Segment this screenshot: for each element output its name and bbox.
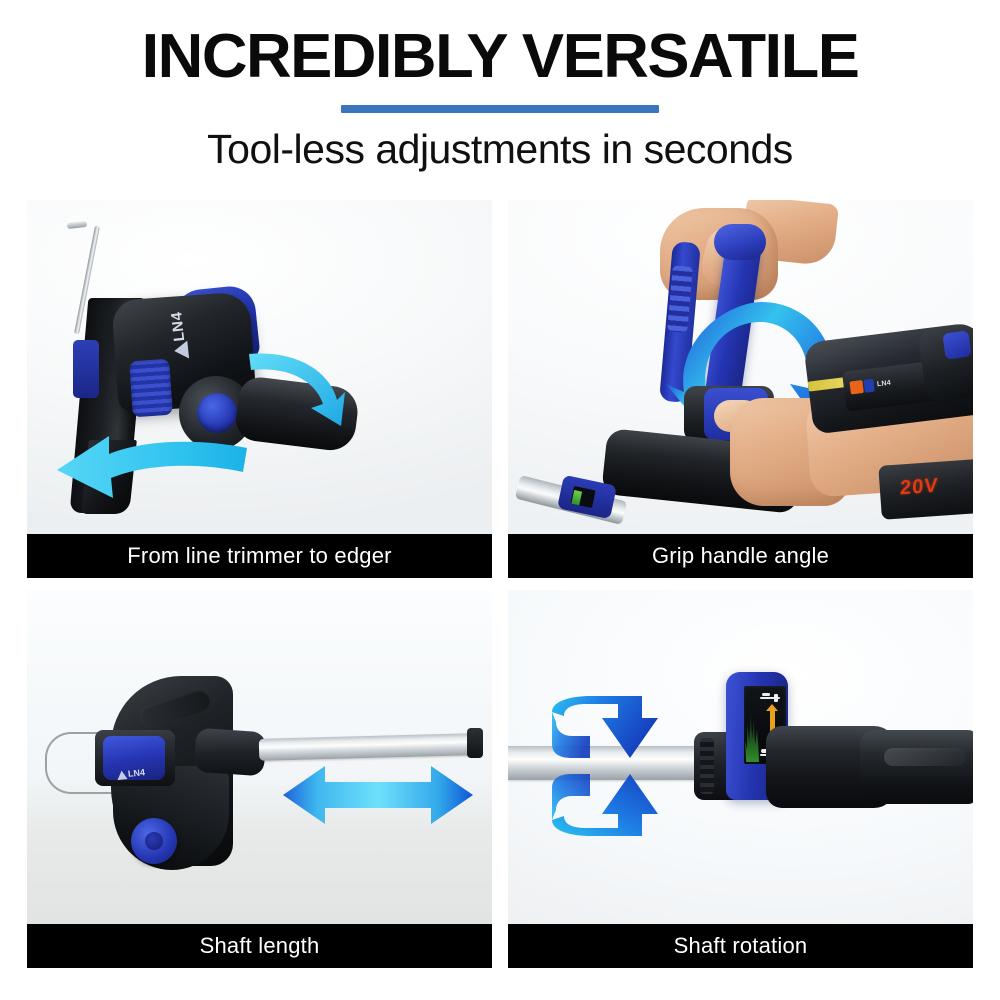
feature-panel-grid: LN4: [27, 200, 973, 968]
adjustment-rod-tip: [67, 221, 88, 229]
feature-panel-shaft-rotation[interactable]: Shaft rotation: [508, 590, 973, 968]
panel-caption-bar: Shaft length: [27, 924, 492, 968]
feature-panel-grip-handle-angle[interactable]: LN4 20V Grip handle angle: [508, 200, 973, 578]
brand-triangle-icon: [117, 770, 128, 780]
battery-voltage-label: 20V: [900, 475, 939, 501]
product-photo-trimmer-head: LN4: [27, 200, 492, 534]
panel-caption-text: Shaft rotation: [674, 933, 808, 959]
product-photo-shaft-rotation: [508, 590, 973, 924]
product-photo-shaft-length: LN4: [27, 590, 492, 924]
feature-panel-shaft-length[interactable]: LN4: [27, 590, 492, 968]
telescoping-shaft: [259, 733, 478, 761]
rear-handle-blue-accent: [942, 330, 971, 359]
feature-panel-line-trimmer-to-edger[interactable]: LN4: [27, 200, 492, 578]
page-subtitle: Tool-less adjustments in seconds: [0, 127, 1000, 171]
edger-wheel-hub: [145, 832, 163, 850]
panel-caption-text: Shaft length: [200, 933, 320, 959]
panel-caption-bar: From line trimmer to edger: [27, 534, 492, 578]
shaft-rotation-arrow-icon: [546, 696, 682, 836]
rotation-arrow-large-icon: [47, 432, 257, 524]
brand-logo-text: LN4: [127, 767, 145, 779]
handle-top-knob: [714, 224, 766, 260]
panel-caption-bar: Shaft rotation: [508, 924, 973, 968]
collar-fins: [700, 738, 714, 794]
trimmer-mode-icon: [758, 692, 782, 704]
grass-graphic-icon: [745, 706, 759, 762]
pivot-blue-button: [197, 393, 237, 433]
page-title: INCREDIBLY VERSATILE: [0, 26, 1000, 88]
guard-blue-clip: [73, 340, 99, 398]
brand-logo-head: LN4: [163, 297, 203, 360]
brand-triangle-icon: [173, 341, 189, 360]
brand-blue-block-icon: [863, 378, 875, 392]
panel-caption-bar: Grip handle angle: [508, 534, 973, 578]
accent-divider: [341, 105, 659, 113]
rotation-arrow-small-icon: [241, 348, 361, 434]
brand-badge-text: LN4: [877, 379, 892, 388]
head-neck: [194, 728, 267, 777]
length-double-arrow-icon: [279, 758, 477, 832]
brand-logo-text: LN4: [168, 311, 188, 342]
grip-housing: [860, 730, 973, 804]
panel-caption-text: From line trimmer to edger: [127, 543, 391, 569]
brand-orange-block-icon: [849, 380, 863, 394]
grip-highlight: [884, 748, 966, 766]
header: INCREDIBLY VERSATILE Tool-less adjustmen…: [0, 0, 1000, 171]
panel-caption-text: Grip handle angle: [652, 543, 829, 569]
blue-knurled-adjuster: [129, 359, 173, 418]
product-photo-handle-adjust: LN4 20V: [508, 200, 973, 534]
shaft-end-cap: [467, 728, 483, 758]
